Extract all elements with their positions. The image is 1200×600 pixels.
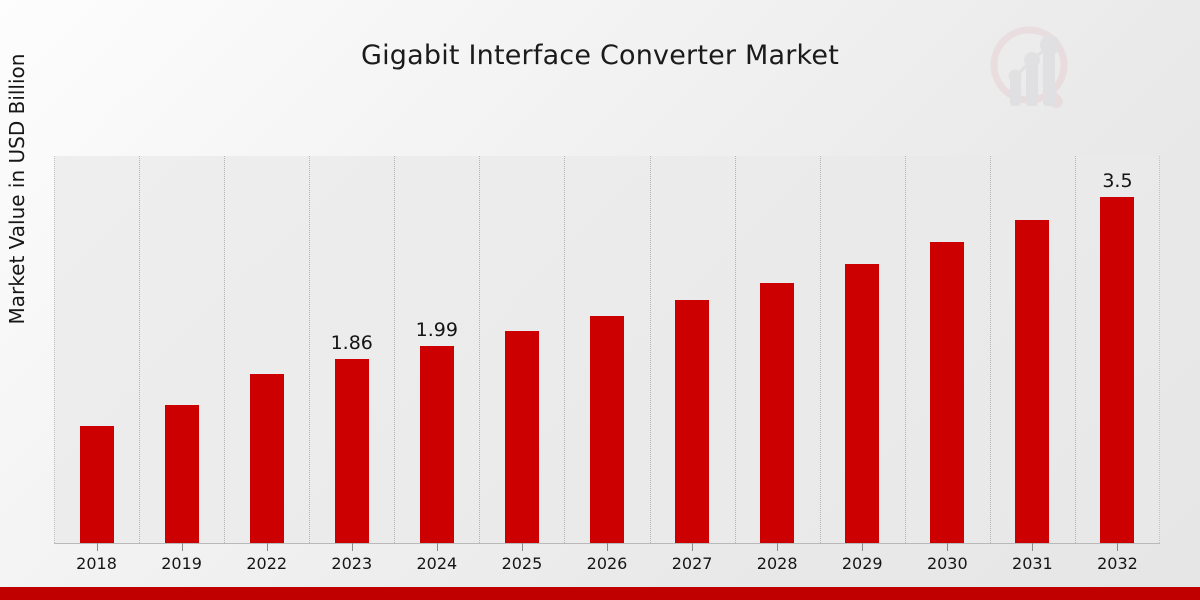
x-axis-tick [777,543,778,551]
x-axis-tick-label: 2027 [672,554,713,573]
x-axis-tick-label: 2018 [76,554,117,573]
page-title: Gigabit Interface Converter Market [0,40,1200,71]
x-axis-tick [97,543,98,551]
bar[interactable] [760,283,794,543]
x-axis-tick-label: 2022 [246,554,287,573]
chart-canvas: Gigabit Interface Converter Market Marke… [0,0,1200,600]
bar-slot [224,156,309,543]
bar-slot: 3.5 [1075,156,1160,543]
bar-slot [650,156,735,543]
x-axis-tick [862,543,863,551]
bar[interactable] [335,359,369,543]
bar[interactable] [505,331,539,543]
x-axis-tick-label: 2031 [1012,554,1053,573]
x-axis-tick-label: 2032 [1097,554,1138,573]
x-axis-tick [947,543,948,551]
bar-slot: 1.86 [309,156,394,543]
bar-slot [54,156,139,543]
x-axis-tick-label: 2025 [502,554,543,573]
bar[interactable] [930,242,964,543]
x-axis-tick-label: 2030 [927,554,968,573]
bar-value-label: 1.86 [331,332,373,354]
bar[interactable] [1015,220,1049,543]
x-axis-tick-label: 2026 [587,554,628,573]
bar-slot [735,156,820,543]
x-axis-tick-label: 2023 [331,554,372,573]
bar[interactable] [250,374,284,543]
bar[interactable] [165,405,199,543]
bar[interactable] [675,300,709,543]
x-axis-tick [1117,543,1118,551]
gridline [1159,156,1160,543]
x-axis-tick [692,543,693,551]
x-axis-tick [522,543,523,551]
bar-value-label: 1.99 [416,319,458,341]
bar[interactable] [420,346,454,543]
plot-area: 2018201920221.8620231.992024202520262027… [54,156,1160,544]
x-axis-tick-label: 2019 [161,554,202,573]
bar-slot [820,156,905,543]
footer-accent-bar [0,587,1200,600]
x-axis-tick [437,543,438,551]
bar-slot [905,156,990,543]
bar-slot [564,156,649,543]
x-axis-tick-label: 2028 [757,554,798,573]
bar-slot [139,156,224,543]
x-axis-tick [352,543,353,551]
x-axis-tick [267,543,268,551]
bar-value-label: 3.5 [1102,170,1132,192]
y-axis-label: Market Value in USD Billion [5,0,39,379]
bar[interactable] [1100,197,1134,543]
x-axis-tick-label: 2024 [416,554,457,573]
x-axis-tick-label: 2029 [842,554,883,573]
x-axis-tick [607,543,608,551]
bar[interactable] [80,426,114,543]
bar-slot [479,156,564,543]
bar[interactable] [590,316,624,543]
x-axis-tick [182,543,183,551]
bar-slot: 1.99 [394,156,479,543]
bar[interactable] [845,264,879,543]
x-axis-tick [1032,543,1033,551]
bar-slot [990,156,1075,543]
